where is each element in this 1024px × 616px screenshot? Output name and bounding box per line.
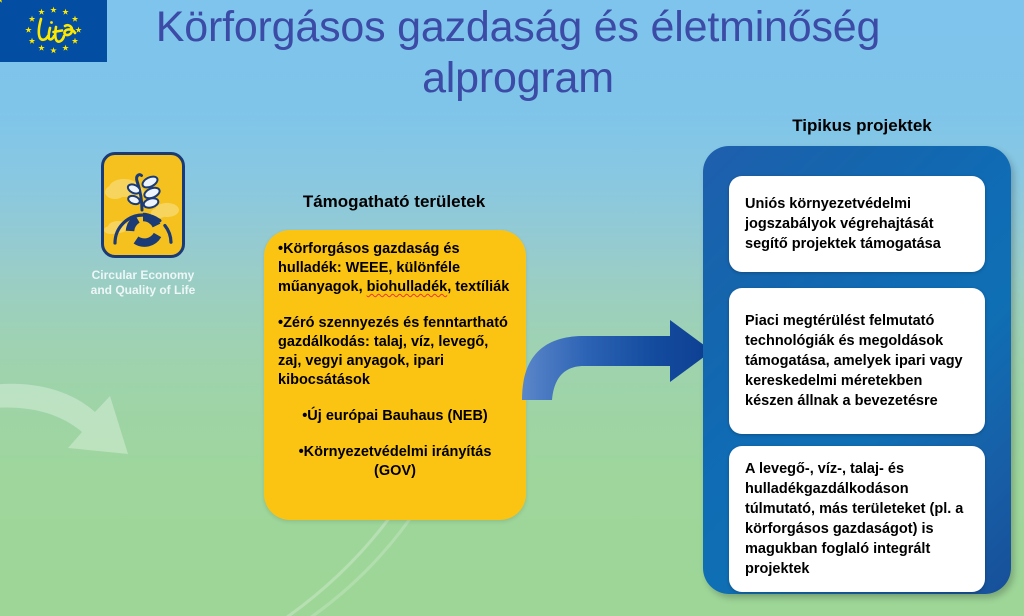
eligible-areas-heading: Támogatható területek	[258, 192, 530, 212]
eligible-bullet-circular-economy-waste: •Körforgásos gazdaság és hulladék: WEEE,…	[278, 240, 512, 297]
typical-projects-panel: Uniós környezetvédelmi jogszabályok végr…	[703, 146, 1011, 594]
eligible-bullet-zero-pollution: •Zéró szennyezés és fenntartható gazdálk…	[278, 314, 512, 390]
typical-project-box: Uniós környezetvédelmi jogszabályok végr…	[729, 176, 985, 272]
page-title: Körforgásos gazdaság és életminőség alpr…	[118, 2, 918, 104]
bullet-text-post: , textíliák	[447, 279, 509, 295]
circular-economy-icon	[101, 152, 185, 258]
eligible-areas-card: •Körforgásos gazdaság és hulladék: WEEE,…	[264, 230, 526, 520]
circular-economy-icon-block: Circular Economy and Quality of Life	[72, 152, 214, 298]
typical-project-box: Piaci megtérülést felmutató technológiák…	[729, 288, 985, 434]
typical-project-text: Uniós környezetvédelmi jogszabályok végr…	[729, 194, 985, 254]
life-logo	[0, 0, 107, 62]
circular-economy-icon-caption: Circular Economy and Quality of Life	[72, 268, 214, 298]
decorative-arrow-icon	[0, 370, 260, 540]
bullet-text-misspelled: biohulladék	[367, 279, 448, 295]
typical-projects-heading: Tipikus projektek	[700, 116, 1024, 136]
eligible-bullet-new-european-bauhaus: •Új európai Bauhaus (NEB)	[278, 407, 512, 426]
icon-caption-line-1: Circular Economy	[72, 268, 214, 283]
typical-project-text: Piaci megtérülést felmutató technológiák…	[729, 311, 985, 411]
eligible-bullet-environmental-governance: •Környezetvédelmi irányítás (GOV)	[278, 443, 512, 481]
flow-arrow	[522, 318, 712, 400]
slide-canvas: Körforgásos gazdaság és életminőség alpr…	[0, 0, 1024, 616]
page-title-line-2: alprogram	[118, 53, 918, 104]
icon-caption-line-2: and Quality of Life	[72, 283, 214, 298]
typical-project-box: A levegő-, víz-, talaj- és hulladékgazdá…	[729, 446, 985, 592]
typical-project-text: A levegő-, víz-, talaj- és hulladékgazdá…	[729, 459, 985, 579]
page-title-line-1: Körforgásos gazdaság és életminőség	[118, 2, 918, 53]
